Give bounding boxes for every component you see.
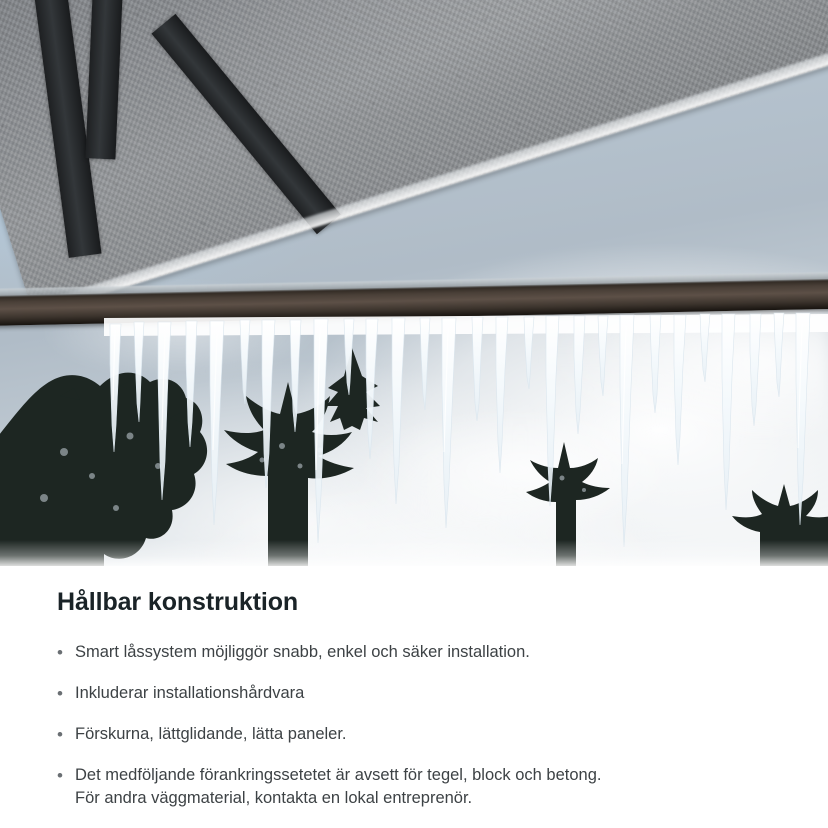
bullet-text: Det medföljande förankringssetetet är av… <box>75 764 601 810</box>
list-item: • Smart låssystem möjliggör snabb, enkel… <box>55 641 788 665</box>
bullet-dot-icon: • <box>55 682 75 706</box>
tree-silhouettes <box>0 326 828 566</box>
bullet-text: Inkluderar installationshårdvara <box>75 682 304 705</box>
content-panel: Hållbar konstruktion • Smart låssystem m… <box>0 566 828 828</box>
list-item: • Det medföljande förankringssetetet är … <box>55 764 788 810</box>
list-item: • Inkluderar installationshårdvara <box>55 682 788 706</box>
product-feature-card: Hållbar konstruktion • Smart låssystem m… <box>0 0 828 828</box>
list-item: • Förskurna, lättglidande, lätta paneler… <box>55 723 788 747</box>
feature-bullet-list: • Smart låssystem möjliggör snabb, enkel… <box>55 641 788 810</box>
photo-bottom-fade <box>0 540 828 566</box>
bullet-dot-icon: • <box>55 764 75 788</box>
section-heading: Hållbar konstruktion <box>57 588 788 617</box>
bullet-text: Smart låssystem möjliggör snabb, enkel o… <box>75 641 530 664</box>
bullet-text: Förskurna, lättglidande, lätta paneler. <box>75 723 347 746</box>
hero-photo <box>0 0 828 566</box>
bullet-dot-icon: • <box>55 723 75 747</box>
bullet-dot-icon: • <box>55 641 75 665</box>
